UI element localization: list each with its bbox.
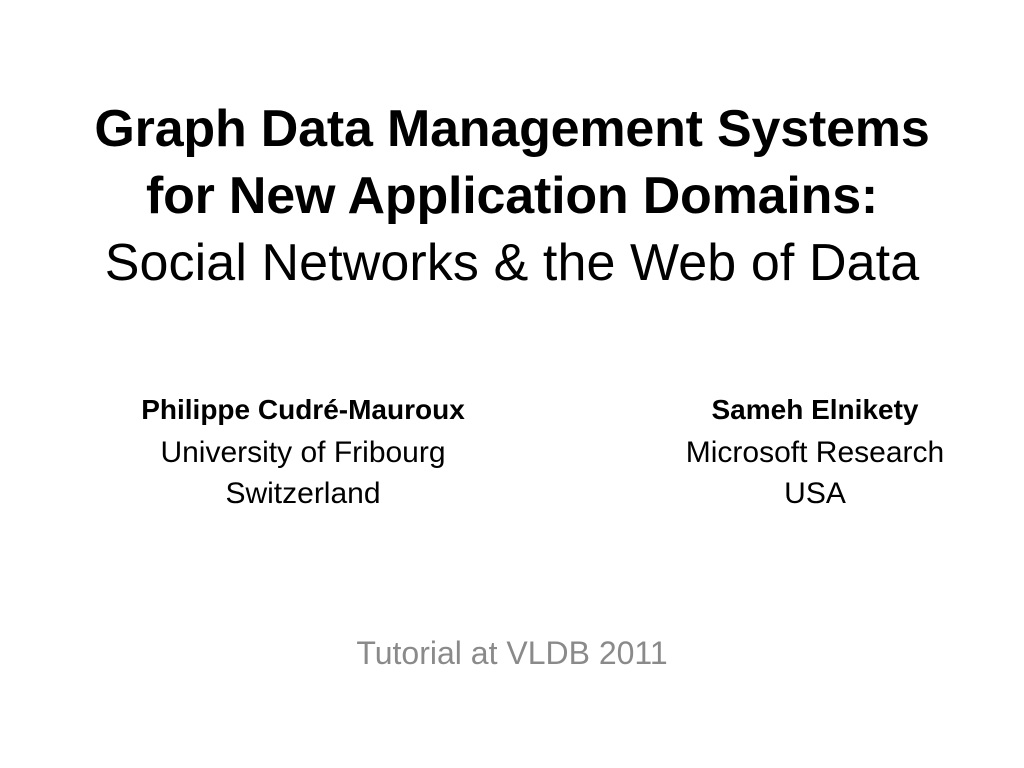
slide-footer: Tutorial at VLDB 2011 [0,632,1024,674]
title-line-1: Graph Data Management Systems [0,96,1024,163]
author-column-1: Philippe Cudré-Mauroux University of Fri… [0,388,606,514]
author-affiliation-2: Microsoft Research [606,432,1024,473]
author-country-2: USA [606,473,1024,514]
author-name-2: Sameh Elnikety [606,388,1024,432]
slide-title: Graph Data Management Systems for New Ap… [0,96,1024,297]
presentation-title-slide: Graph Data Management Systems for New Ap… [0,0,1024,768]
title-line-3-subtitle: Social Networks & the Web of Data [0,230,1024,297]
author-country-1: Switzerland [0,473,606,514]
author-affiliation-1: University of Fribourg [0,432,606,473]
venue-label: Tutorial at VLDB 2011 [356,635,667,671]
author-column-2: Sameh Elnikety Microsoft Research USA [606,388,1024,514]
author-block: Philippe Cudré-Mauroux University of Fri… [0,388,1024,514]
author-name-1: Philippe Cudré-Mauroux [0,388,606,432]
title-line-2: for New Application Domains: [0,163,1024,230]
